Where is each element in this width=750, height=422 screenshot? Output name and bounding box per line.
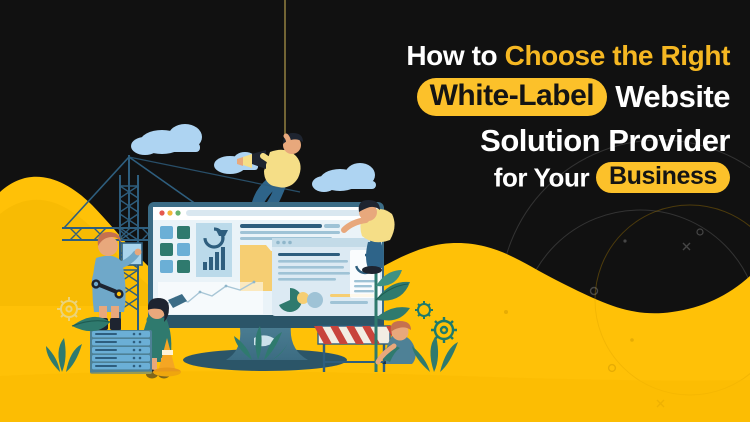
headline-line-4-plain: for Your	[494, 162, 596, 192]
headline-line-1: How to Choose the Right	[310, 42, 730, 70]
marketing-banner: How to Choose the Right White-Label Webs…	[0, 0, 750, 422]
server-rack	[90, 330, 152, 374]
headline-block: How to Choose the Right White-Label Webs…	[310, 42, 730, 195]
traffic-light-red	[159, 210, 164, 215]
headline-line-2: White-Label Website	[310, 80, 730, 118]
text-lines-top	[240, 224, 340, 240]
traffic-light-yellow	[167, 210, 172, 215]
address-bar	[186, 210, 372, 216]
headline-line-3: Solution Provider	[310, 125, 730, 156]
headline-line-4: for Your Business	[310, 164, 730, 195]
headline-line-1-accent: Choose the Right	[505, 40, 730, 71]
white-label-pill: White-Label	[417, 78, 608, 116]
dot-icon	[623, 239, 626, 242]
business-pill: Business	[596, 162, 730, 193]
traffic-light-green	[175, 210, 180, 215]
headline-line-2-plain: Website	[607, 79, 730, 114]
headline-line-1-plain: How to	[406, 40, 504, 71]
